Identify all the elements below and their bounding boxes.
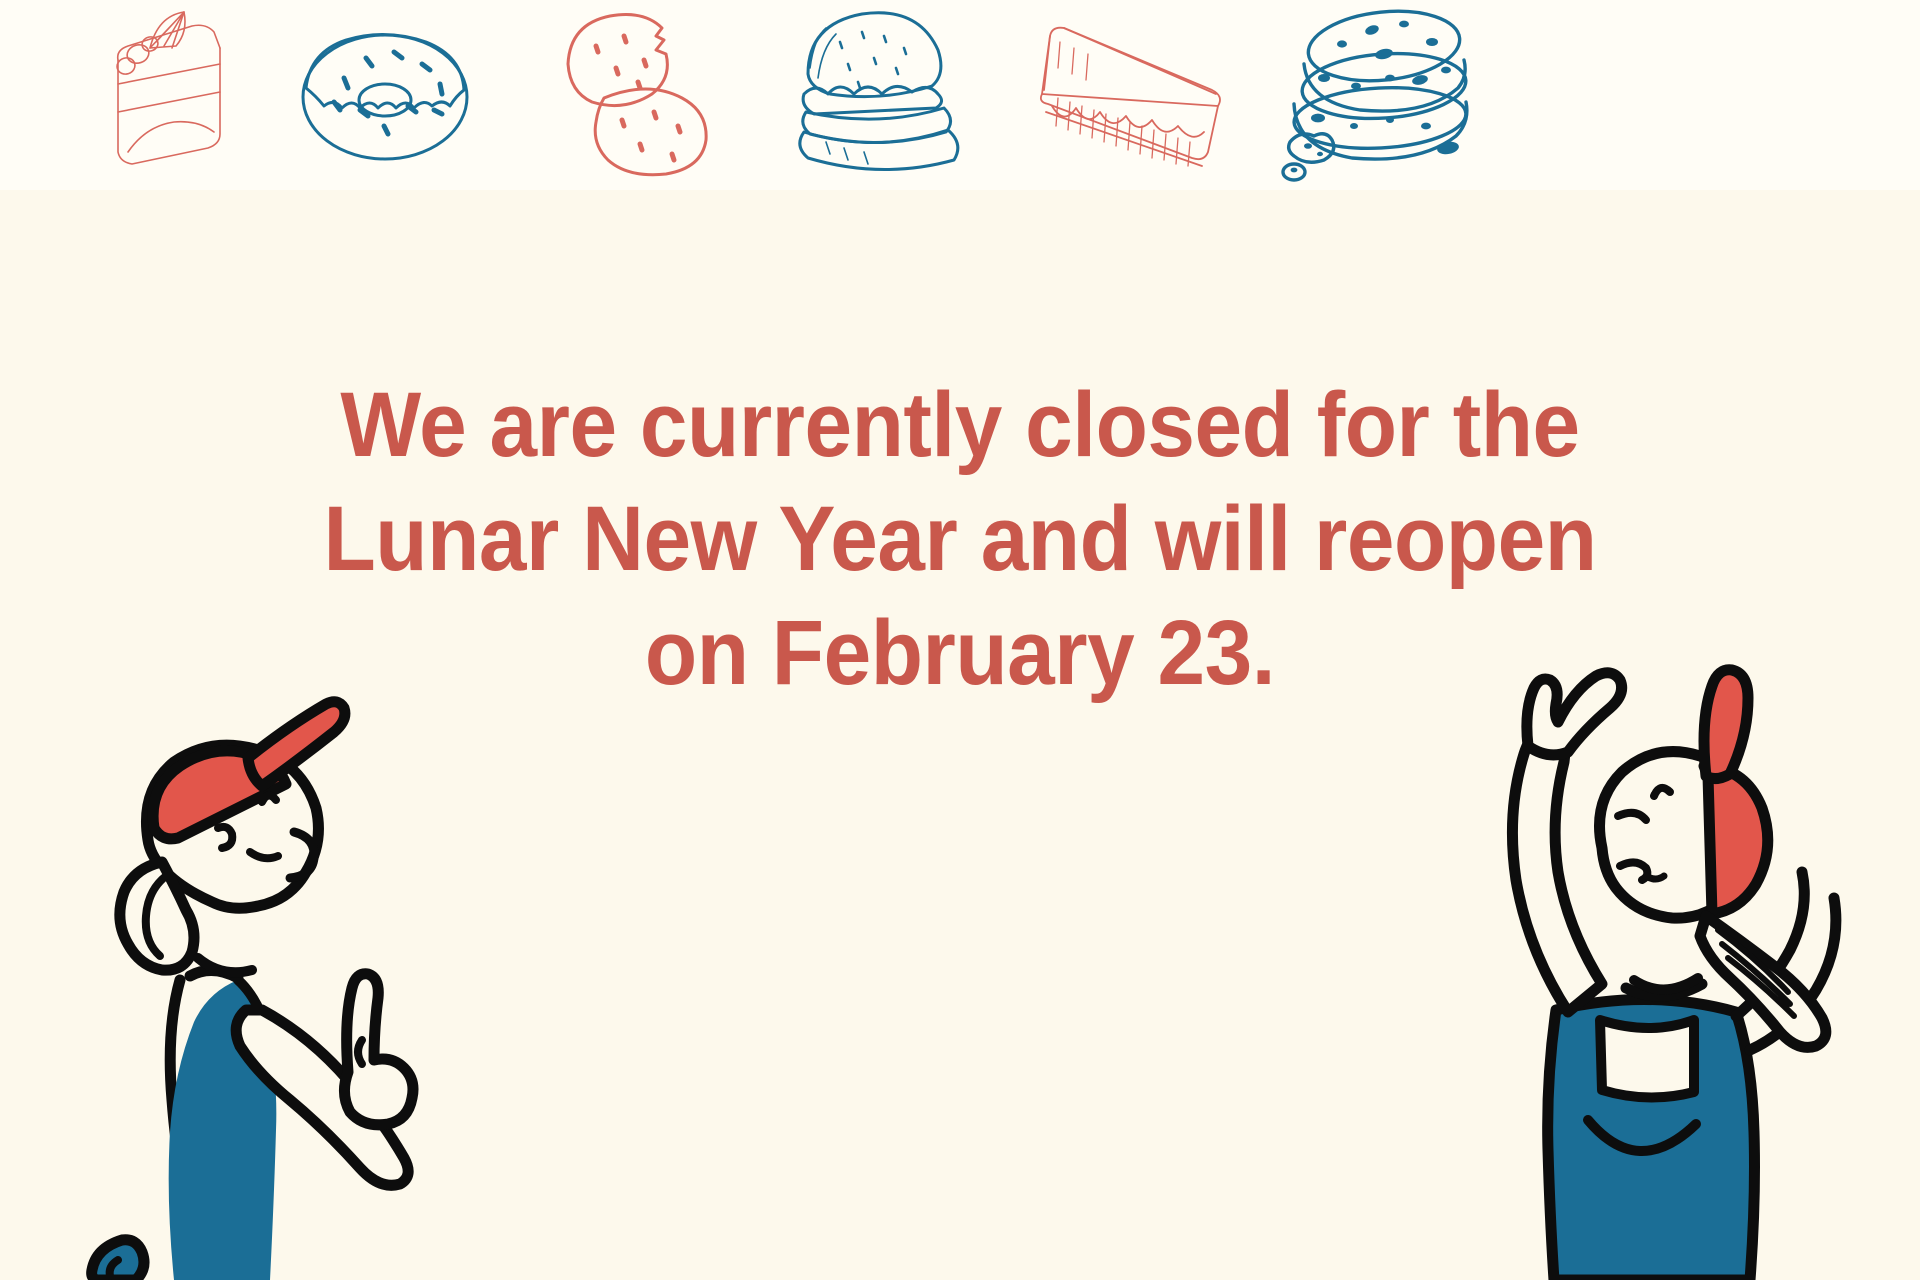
notice-line-1: We are currently closed for the [272,368,1648,482]
chocolate-chip-cookies-icon [1280,2,1490,184]
donut-icon [290,2,480,184]
notice-line-2: Lunar New Year and will reopen [272,482,1648,596]
staff-character-pointing [62,680,462,1280]
cookie-stack-icon [548,2,728,184]
cake-slice-icon [88,2,238,184]
sandwich-icon [1030,2,1240,184]
burger-icon [786,2,971,184]
notice-line-3: on February 23. [272,596,1648,710]
notice-page: We are currently closed for the Lunar Ne… [0,0,1920,1280]
food-illustration-strip [0,0,1920,190]
staff-character-cheering [1450,580,1890,1280]
